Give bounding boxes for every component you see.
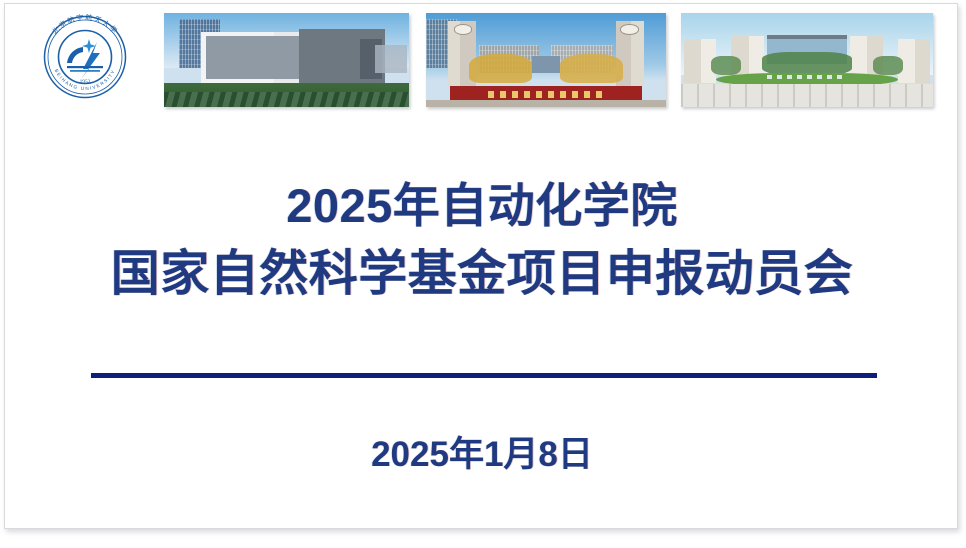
campus-main-gate-photo: [426, 13, 666, 107]
slide-date: 2025年1月8日: [5, 432, 958, 478]
academic-building-photo: [164, 13, 409, 107]
slide-header: 北京航空航天大学 BEIHANG UNIVERSITY 1952: [5, 4, 958, 116]
beihang-university-seal-icon: 北京航空航天大学 BEIHANG UNIVERSITY 1952: [37, 9, 133, 105]
title-line-1: 2025年自动化学院: [5, 172, 958, 240]
svg-text:1952: 1952: [80, 79, 91, 85]
presentation-slide: 北京航空航天大学 BEIHANG UNIVERSITY 1952: [4, 3, 958, 529]
slide-title: 2025年自动化学院 国家自然科学基金项目申报动员会: [5, 172, 958, 308]
campus-plaza-gate-photo: [681, 13, 933, 107]
title-divider-rule: [91, 373, 877, 378]
title-line-2: 国家自然科学基金项目申报动员会: [5, 240, 958, 308]
